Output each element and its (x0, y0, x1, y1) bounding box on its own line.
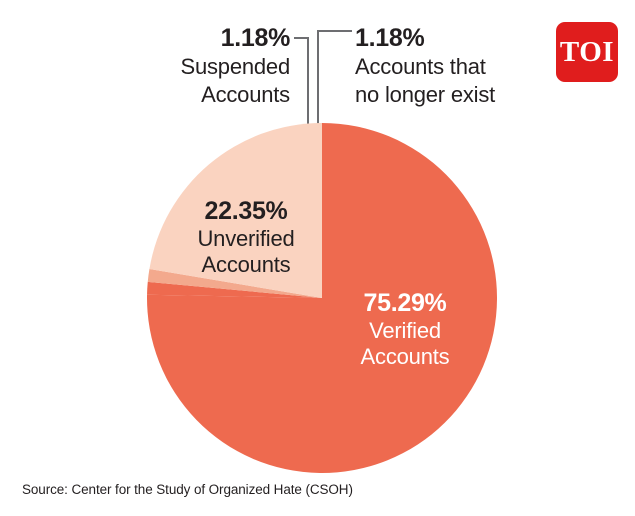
slice-label-verified: 75.29% Verified Accounts (310, 288, 500, 371)
callout-suspended-percent: 1.18% (120, 24, 290, 53)
toi-logo: TOI (556, 22, 618, 82)
callout-suspended-accounts: 1.18% Suspended Accounts (120, 24, 290, 108)
slice-label-verified-percent: 75.29% (310, 288, 500, 318)
callout-suspended-line1: Suspended (120, 53, 290, 81)
infographic-canvas: TOI 1.18% Suspended Accounts 1.18% Accou… (0, 0, 635, 516)
slice-label-unverified: 22.35% Unverified Accounts (151, 196, 341, 279)
callout-no-longer-exist-line2: no longer exist (355, 81, 565, 109)
slice-label-verified-line2: Accounts (310, 344, 500, 370)
slice-label-verified-line1: Verified (310, 318, 500, 344)
slice-label-unverified-percent: 22.35% (151, 196, 341, 226)
slice-label-unverified-line1: Unverified (151, 226, 341, 252)
toi-logo-text: TOI (560, 38, 614, 67)
callout-no-longer-exist-line1: Accounts that (355, 53, 565, 81)
callout-suspended-line2: Accounts (120, 81, 290, 109)
source-attribution: Source: Center for the Study of Organize… (22, 482, 353, 497)
callout-no-longer-exist-percent: 1.18% (355, 24, 565, 53)
slice-label-unverified-line2: Accounts (151, 252, 341, 278)
callout-no-longer-exist: 1.18% Accounts that no longer exist (355, 24, 565, 108)
